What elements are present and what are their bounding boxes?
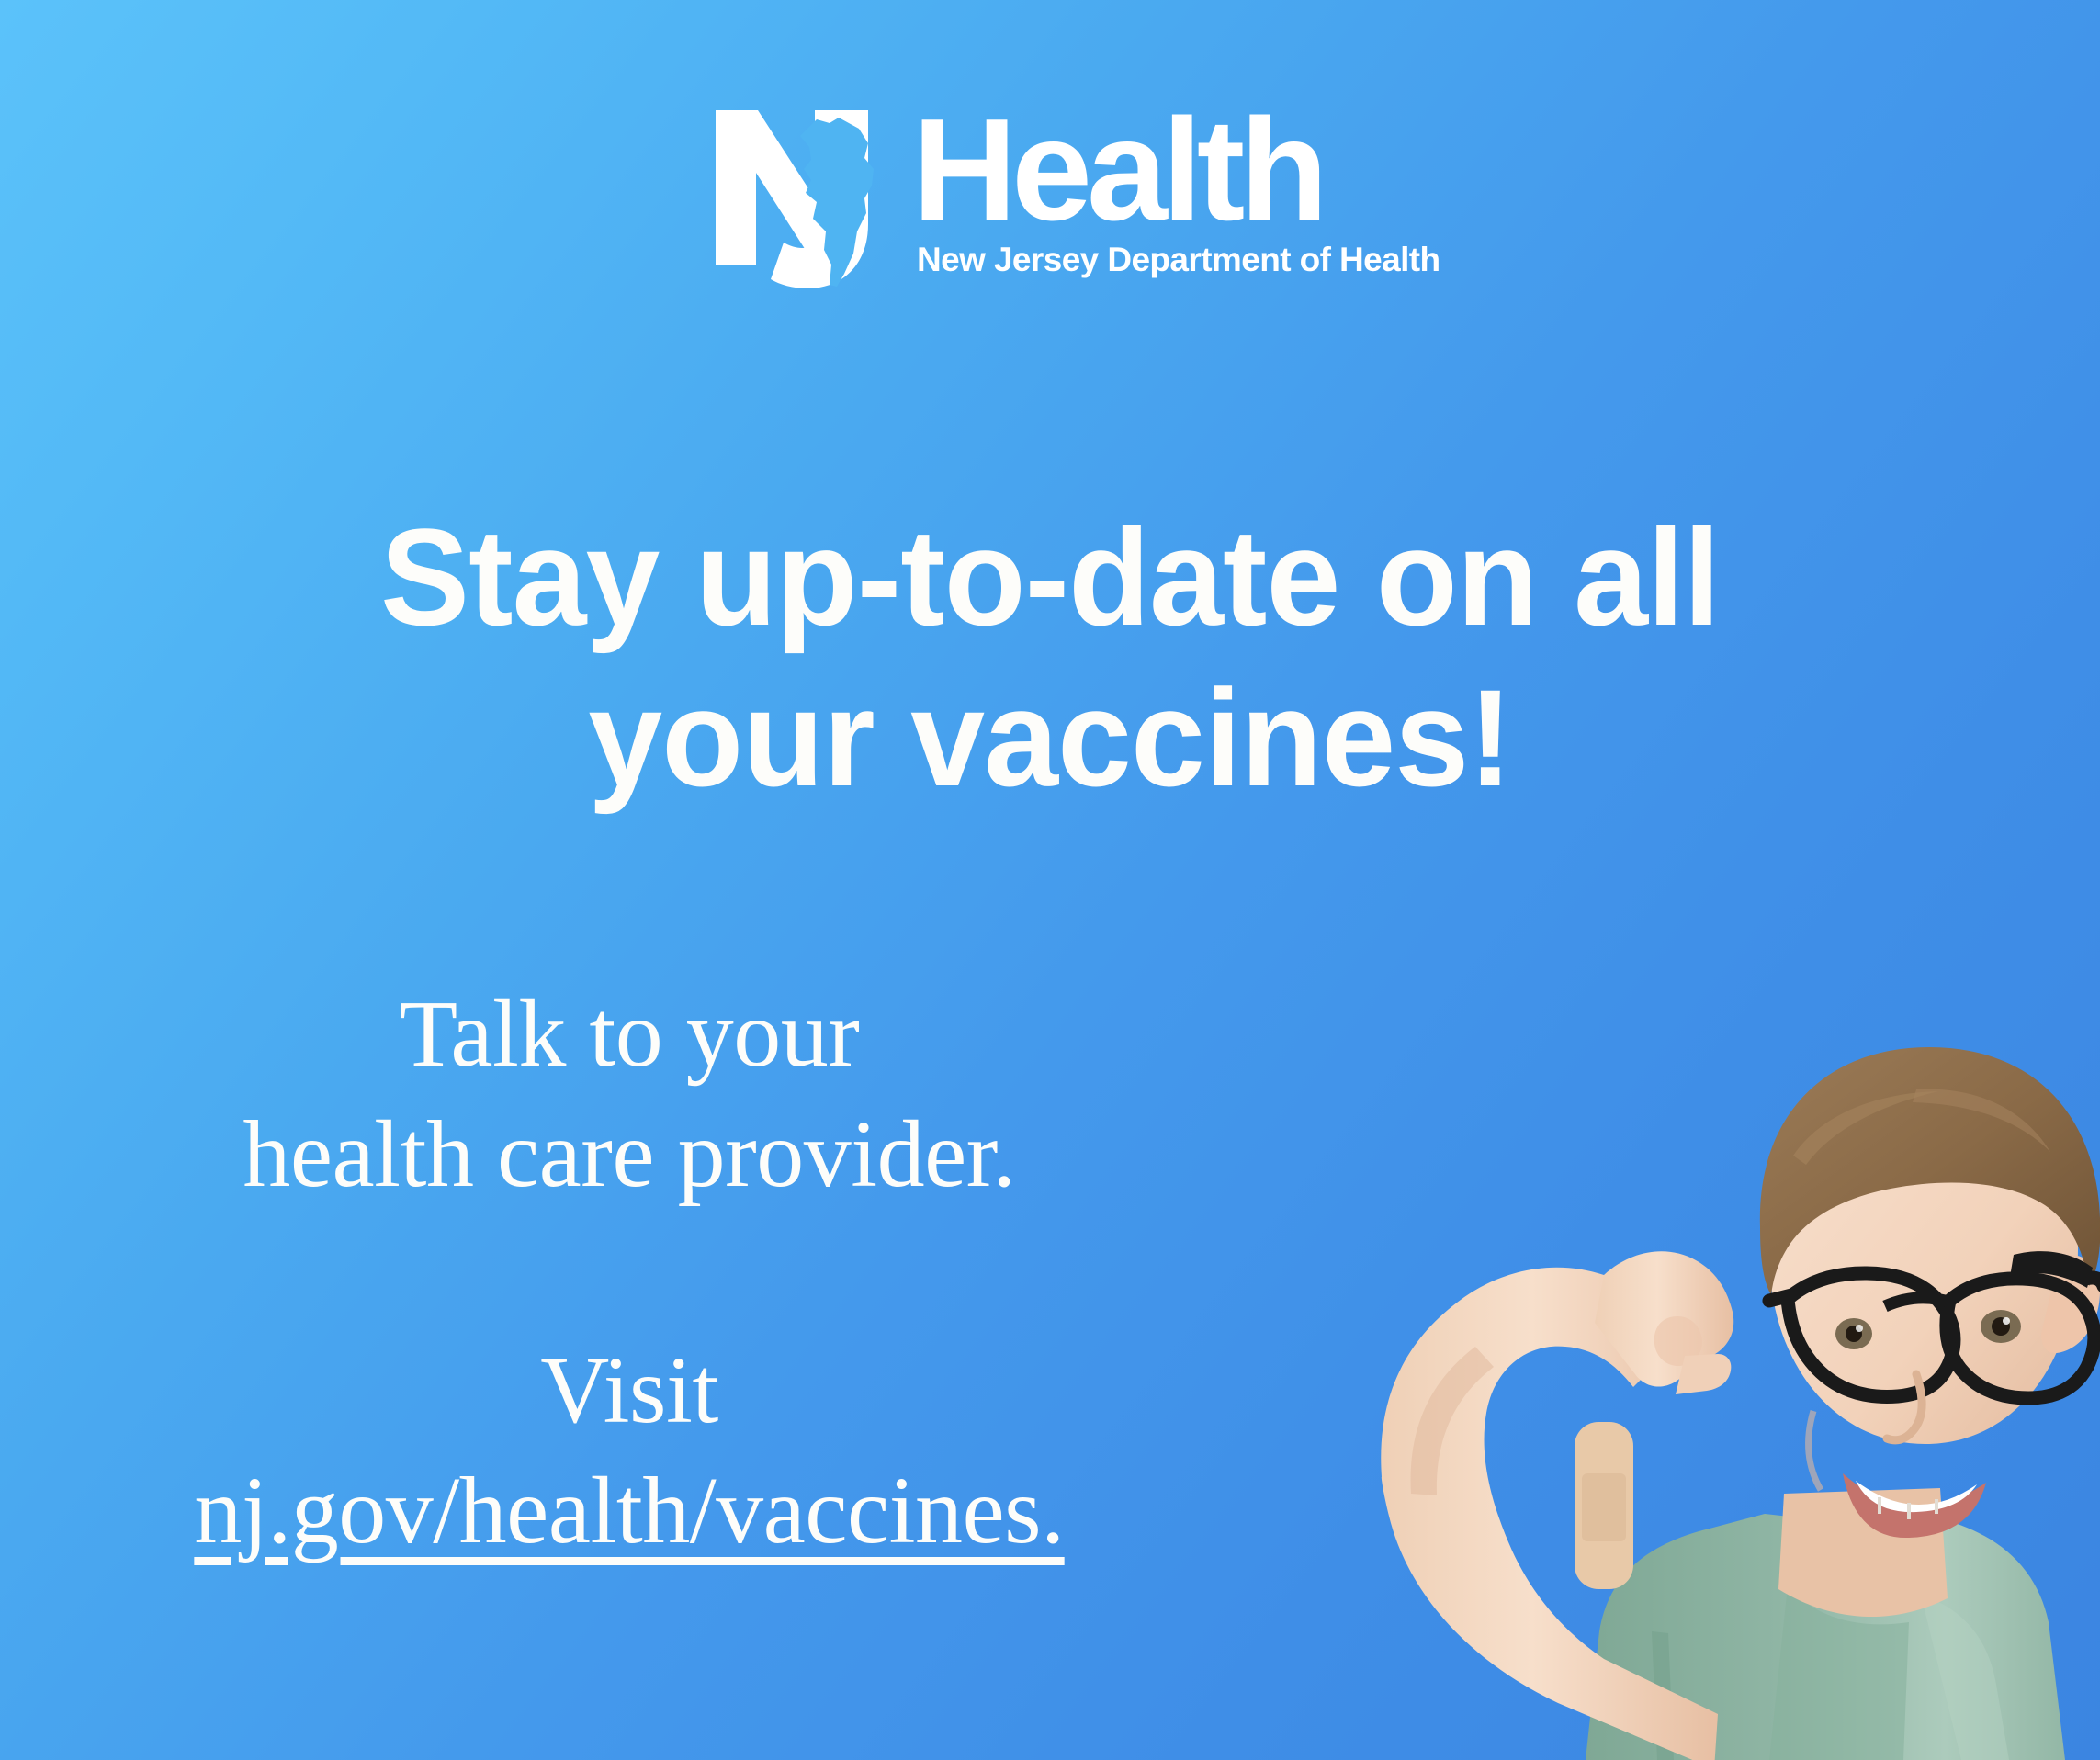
vaccines-url-link[interactable]: nj.gov/health/vaccines. (194, 1450, 1064, 1571)
headline-line-1: Stay up-to-date on all (31, 497, 2068, 659)
poster-body-copy: Talk to your health care provider. Visit… (37, 974, 1222, 1571)
visit-url-wrap: nj.gov/health/vaccines. (37, 1450, 1222, 1571)
headline-line-2: your vaccines! (31, 658, 2068, 819)
nj-health-logo: Health New Jersey Department of Health (712, 103, 1392, 296)
nj-monogram-icon (712, 103, 928, 296)
visit-message: Visit nj.gov/health/vaccines. (37, 1330, 1222, 1571)
vaccine-awareness-poster: Health New Jersey Department of Health S… (0, 0, 2100, 1760)
logo-wordmark: Health (912, 97, 1323, 243)
provider-line-1: Talk to your (37, 974, 1222, 1094)
poster-headline: Stay up-to-date on all your vaccines! (0, 497, 2100, 819)
provider-line-2: health care provider. (37, 1094, 1222, 1214)
logo-tagline: New Jersey Department of Health (917, 241, 1440, 279)
provider-message: Talk to your health care provider. (37, 974, 1222, 1214)
boy-flexing-photo (1273, 860, 2100, 1760)
visit-label: Visit (37, 1330, 1222, 1450)
copy-spacer (37, 1214, 1222, 1330)
